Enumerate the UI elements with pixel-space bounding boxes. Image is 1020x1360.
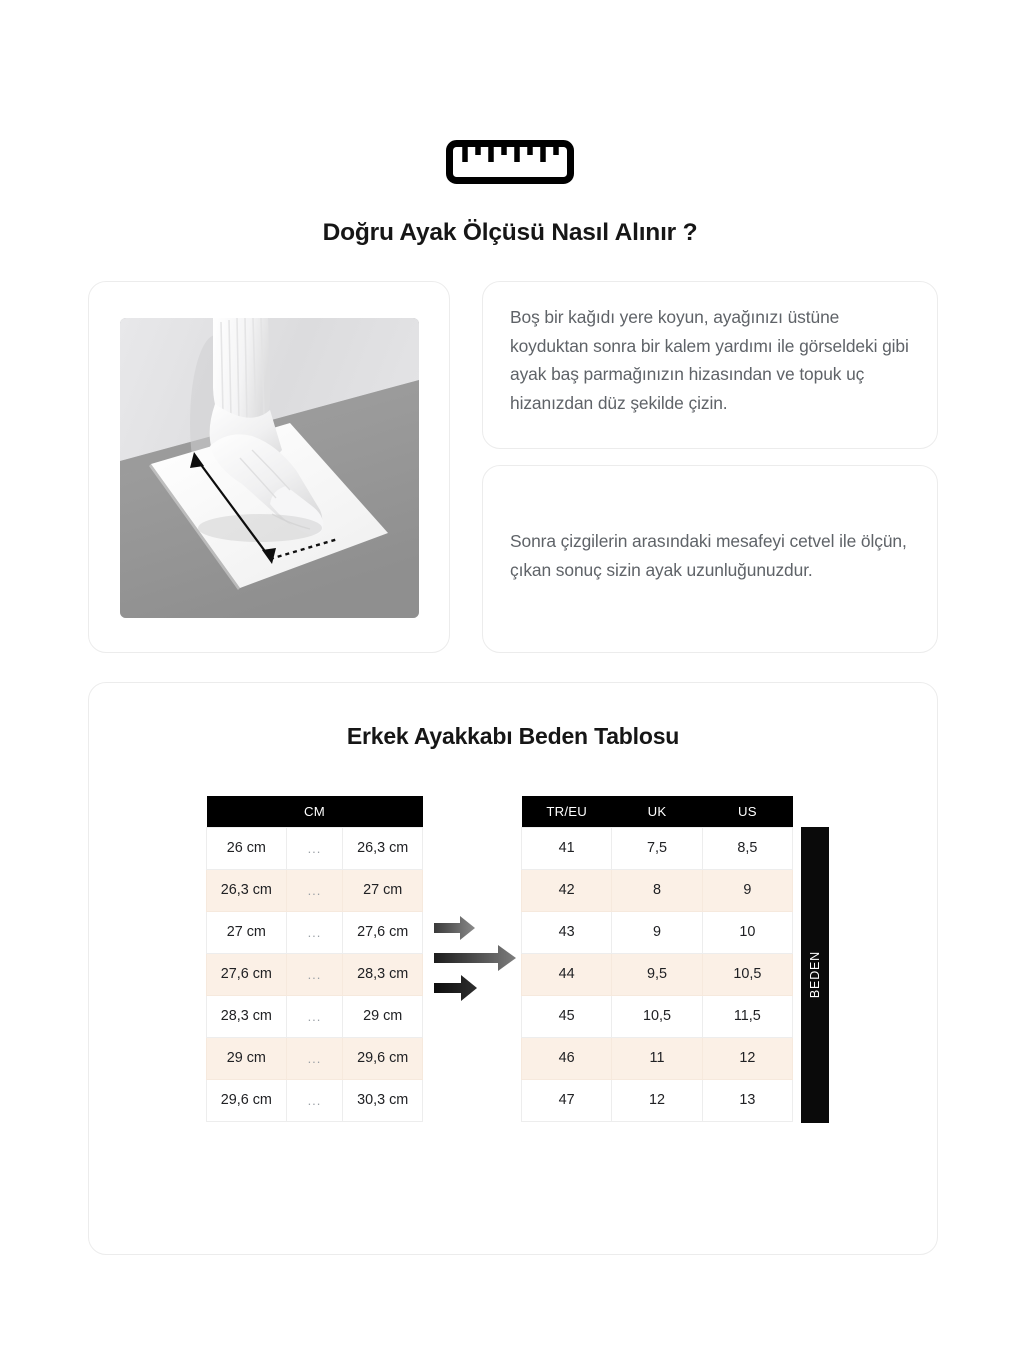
beden-vertical-bar: BEDEN — [801, 827, 829, 1123]
size-treu: 41 — [522, 827, 612, 869]
cm-separator: ... — [286, 953, 343, 995]
foot-measurement-photo — [120, 318, 419, 618]
size-chart-card: Erkek Ayakkabı Beden Tablosu CM 26 cm ..… — [88, 682, 938, 1255]
size-table-header-uk: UK — [612, 796, 702, 827]
cm-separator: ... — [286, 827, 343, 869]
size-table-body: 41 7,5 8,5 42 8 9 43 9 10 44 9,5 10, — [522, 827, 793, 1121]
cm-to: 29,6 cm — [343, 1037, 423, 1079]
table-row: 26,3 cm ... 27 cm — [207, 869, 423, 911]
size-table-header-us: US — [702, 796, 792, 827]
cm-separator: ... — [286, 869, 343, 911]
cm-from: 27 cm — [207, 911, 287, 953]
cm-from: 28,3 cm — [207, 995, 287, 1037]
size-uk: 7,5 — [612, 827, 702, 869]
instruction-text-1: Boş bir kağıdı yere koyun, ayağınızı üst… — [510, 303, 915, 417]
photo-card — [88, 281, 450, 653]
size-us: 13 — [702, 1079, 792, 1121]
conversion-arrows-icon — [432, 911, 518, 1006]
size-uk: 10,5 — [612, 995, 702, 1037]
cm-from: 29 cm — [207, 1037, 287, 1079]
table-row: 28,3 cm ... 29 cm — [207, 995, 423, 1037]
cm-to: 28,3 cm — [343, 953, 423, 995]
cm-table: CM 26 cm ... 26,3 cm 26,3 cm ... 27 cm 2… — [206, 796, 423, 1122]
cm-table-body: 26 cm ... 26,3 cm 26,3 cm ... 27 cm 27 c… — [207, 827, 423, 1121]
size-table-header-treu: TR/EU — [522, 796, 612, 827]
cm-table-header-row: CM — [207, 796, 423, 827]
table-row: 27,6 cm ... 28,3 cm — [207, 953, 423, 995]
size-guide-page: Doğru Ayak Ölçüsü Nasıl Alınır ? — [0, 0, 1020, 1360]
instruction-card-2: Sonra çizgilerin arasındaki mesafeyi cet… — [482, 465, 938, 653]
table-row: 26 cm ... 26,3 cm — [207, 827, 423, 869]
size-table-header-row: TR/EU UK US — [522, 796, 793, 827]
cm-to: 27 cm — [343, 869, 423, 911]
cm-to: 27,6 cm — [343, 911, 423, 953]
size-treu: 42 — [522, 869, 612, 911]
cm-to: 30,3 cm — [343, 1079, 423, 1121]
size-uk: 11 — [612, 1037, 702, 1079]
table-row: 46 11 12 — [522, 1037, 793, 1079]
size-uk: 8 — [612, 869, 702, 911]
size-uk: 12 — [612, 1079, 702, 1121]
size-us: 11,5 — [702, 995, 792, 1037]
size-uk: 9,5 — [612, 953, 702, 995]
ruler-icon — [446, 140, 574, 184]
instruction-card-1: Boş bir kağıdı yere koyun, ayağınızı üst… — [482, 281, 938, 449]
cm-from: 27,6 cm — [207, 953, 287, 995]
size-treu: 43 — [522, 911, 612, 953]
size-us: 12 — [702, 1037, 792, 1079]
table-row: 27 cm ... 27,6 cm — [207, 911, 423, 953]
cm-separator: ... — [286, 1037, 343, 1079]
table-row: 47 12 13 — [522, 1079, 793, 1121]
foot-photo-illustration — [120, 318, 419, 618]
table-row: 45 10,5 11,5 — [522, 995, 793, 1037]
cm-to: 26,3 cm — [343, 827, 423, 869]
cm-separator: ... — [286, 1079, 343, 1121]
table-row: 29 cm ... 29,6 cm — [207, 1037, 423, 1079]
size-treu: 47 — [522, 1079, 612, 1121]
beden-label: BEDEN — [808, 951, 822, 998]
ruler-icon-container — [0, 140, 1020, 184]
size-treu: 45 — [522, 995, 612, 1037]
cm-separator: ... — [286, 995, 343, 1037]
table-row: 41 7,5 8,5 — [522, 827, 793, 869]
table-row: 29,6 cm ... 30,3 cm — [207, 1079, 423, 1121]
size-uk: 9 — [612, 911, 702, 953]
size-us: 10 — [702, 911, 792, 953]
size-treu: 44 — [522, 953, 612, 995]
cm-from: 26,3 cm — [207, 869, 287, 911]
size-us: 8,5 — [702, 827, 792, 869]
cm-to: 29 cm — [343, 995, 423, 1037]
size-chart-title: Erkek Ayakkabı Beden Tablosu — [89, 723, 937, 750]
table-row: 44 9,5 10,5 — [522, 953, 793, 995]
cm-from: 26 cm — [207, 827, 287, 869]
table-row: 42 8 9 — [522, 869, 793, 911]
page-title: Doğru Ayak Ölçüsü Nasıl Alınır ? — [0, 219, 1020, 247]
size-treu: 46 — [522, 1037, 612, 1079]
cm-from: 29,6 cm — [207, 1079, 287, 1121]
instruction-text-2: Sonra çizgilerin arasındaki mesafeyi cet… — [510, 527, 915, 584]
table-row: 43 9 10 — [522, 911, 793, 953]
size-us: 9 — [702, 869, 792, 911]
size-table: TR/EU UK US 41 7,5 8,5 42 8 9 43 — [521, 796, 793, 1122]
size-us: 10,5 — [702, 953, 792, 995]
cm-separator: ... — [286, 911, 343, 953]
cm-table-header: CM — [207, 796, 423, 827]
